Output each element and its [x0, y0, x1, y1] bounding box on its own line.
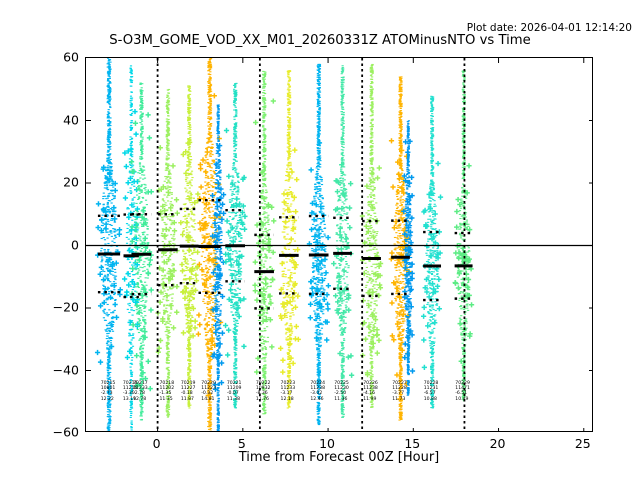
x-axis-label: Time from Forecast 00Z [Hour]: [85, 450, 593, 465]
orbit-stat-column: 7022511230-2.5011.36: [334, 381, 349, 402]
scatter-column: [360, 64, 383, 408]
orbit-stat-column: 7021911227-0.1811.87: [181, 381, 196, 402]
orbit-stat-stdev: 12.46: [310, 397, 325, 402]
orbit-stat-column: 7021711233-2.7812.78: [133, 381, 148, 402]
scatter-column: [331, 65, 354, 418]
orbit-stat-column: 7021811202-1.3511.35: [160, 381, 175, 402]
orbit-stat-column: 7021510801-2.7312.22: [101, 381, 116, 402]
orbit-stat-column: 7022011223-0.3214.81: [201, 381, 216, 402]
scatter-column: [307, 64, 331, 425]
scatter-plot-svg: [86, 58, 593, 432]
scatter-column: [252, 71, 276, 414]
orbit-stat-stdev: 11.35: [160, 397, 175, 402]
orbit-stat-column: 7022210932-8.3611.76: [256, 381, 271, 402]
orbit-stat-stdev: 12.78: [133, 397, 148, 402]
orbit-stat-stdev: 10.88: [424, 397, 439, 402]
orbit-stat-stdev: 11.38: [227, 397, 242, 402]
orbit-stat-column: 7022911471-6.5110.49: [455, 381, 470, 402]
x-tick-label: 25: [575, 436, 591, 451]
scatter-column: [421, 96, 443, 409]
page-title: S-O3M_GOME_VOD_XX_M01_20260331Z ATOMinus…: [0, 33, 640, 48]
scatter-column: [278, 70, 301, 408]
orbit-stat-stdev: 14.81: [201, 397, 216, 402]
y-tick-label: 40: [63, 112, 79, 127]
y-tick-label: −60: [53, 425, 79, 440]
orbit-stat-stdev: 11.76: [256, 397, 271, 402]
orbit-stat-column: 7022411238-3.0212.46: [310, 381, 325, 402]
orbit-stat-stdev: 10.49: [455, 397, 470, 402]
orbit-stat-stdev: 11.36: [334, 397, 349, 402]
y-tick-label: 20: [63, 175, 79, 190]
x-tick-label: 10: [319, 436, 335, 451]
orbit-stat-stdev: 12.18: [281, 397, 296, 402]
scatter-column: [453, 70, 475, 401]
orbit-stat-column: 7022811231-6.5710.88: [424, 381, 439, 402]
x-tick-label: 20: [490, 436, 506, 451]
orbit-stat-column: 7022311233-3.1712.18: [281, 381, 296, 402]
plot-axes: [85, 57, 593, 432]
orbit-stat-column: 7022711228-3.7711.73: [392, 381, 407, 402]
scatter-column: [122, 65, 140, 432]
figure-canvas: Plot date: 2026-04-01 12:14:20 S-O3M_GOM…: [0, 0, 640, 480]
orbit-stat-column: 7022611238-4.1611.99: [363, 381, 378, 402]
orbit-stat-stdev: 11.87: [181, 397, 196, 402]
y-tick-label: 0: [71, 237, 79, 252]
y-tick-label: 60: [63, 50, 79, 65]
x-tick-label: 0: [153, 436, 161, 451]
orbit-stat-stdev: 11.73: [392, 397, 407, 402]
x-tick-label: 15: [404, 436, 420, 451]
y-tick-label: −40: [53, 362, 79, 377]
orbit-stat-stdev: 12.22: [101, 397, 116, 402]
orbit-stat-column: 7022111209-0.0711.38: [227, 381, 242, 402]
x-tick-label: 5: [238, 436, 246, 451]
y-tick-label: −20: [53, 300, 79, 315]
orbit-stat-stdev: 11.99: [363, 397, 378, 402]
scatter-column: [155, 89, 179, 418]
